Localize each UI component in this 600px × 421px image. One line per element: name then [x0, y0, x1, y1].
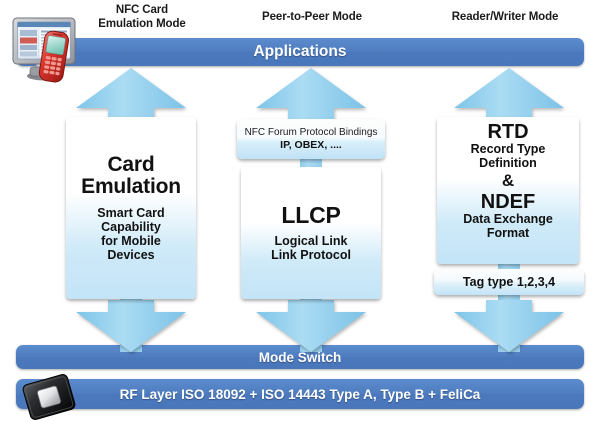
box-rtd-ndef: RTD Record Type Definition & NDEF Data E…: [437, 117, 579, 264]
mode-label-peer-to-peer: Peer-to-Peer Mode: [232, 10, 392, 24]
card-emulation-sub-line3: for Mobile: [97, 234, 164, 248]
box-card-emulation: Card Emulation Smart Card Capability for…: [66, 117, 196, 299]
mode-label-line1: Peer-to-Peer Mode: [232, 10, 392, 24]
mode-label-card-emulation: NFC Card Emulation Mode: [62, 3, 222, 31]
llcp-title: LLCP: [281, 204, 340, 228]
rtd-sub-line2: Definition: [479, 156, 537, 170]
card-emulation-sub-line4: Devices: [97, 248, 164, 262]
tag-type-label: Tag type 1,2,3,4: [463, 275, 555, 289]
arrow-down-left: [76, 300, 186, 352]
rf-layer-bar: RF Layer ISO 18092 + ISO 14443 Type A, T…: [16, 379, 584, 409]
ndef-sub-line2: Format: [487, 226, 529, 240]
card-emulation-sub-line2: Capability: [97, 220, 164, 234]
rf-layer-bar-label: RF Layer ISO 18092 + ISO 14443 Type A, T…: [120, 387, 481, 402]
card-emulation-title-line2: Emulation: [81, 176, 181, 198]
card-emulation-title: Card Emulation: [81, 154, 181, 197]
box-protocol-bindings: NFC Forum Protocol Bindings IP, OBEX, ..…: [237, 119, 385, 159]
box-tag-type: Tag type 1,2,3,4: [434, 269, 584, 295]
mode-label-reader-writer: Reader/Writer Mode: [422, 10, 588, 24]
mode-label-line1: NFC Card: [62, 3, 222, 17]
rtd-sub-line1: Record Type: [471, 142, 546, 156]
arrow-up-right: [454, 68, 564, 120]
applications-bar: Applications: [16, 38, 584, 66]
mode-label-line2: Emulation Mode: [62, 17, 222, 31]
mode-label-line1: Reader/Writer Mode: [422, 10, 588, 24]
rtd-ndef-ampersand: &: [502, 171, 514, 191]
ndef-sub-line1: Data Exchange: [463, 212, 553, 226]
protocol-bindings-line1: NFC Forum Protocol Bindings: [245, 126, 378, 139]
llcp-subtitle: Logical Link Link Protocol: [271, 234, 351, 262]
llcp-sub-line1: Logical Link: [271, 234, 351, 248]
arrow-up-left: [76, 68, 186, 120]
card-emulation-title-line1: Card: [81, 154, 181, 176]
applications-bar-label: Applications: [253, 43, 346, 61]
rtd-title: RTD: [487, 122, 528, 142]
desktop-computer-and-mobile-phone-icon: [6, 8, 82, 84]
protocol-bindings-line2: IP, OBEX, ....: [280, 139, 342, 152]
ndef-title: NDEF: [481, 192, 535, 212]
nfc-architecture-diagram: NFC Card Emulation Mode Peer-to-Peer Mod…: [0, 0, 600, 421]
llcp-sub-line2: Link Protocol: [271, 248, 351, 262]
arrow-down-middle: [256, 300, 366, 352]
card-emulation-subtitle: Smart Card Capability for Mobile Devices: [97, 206, 164, 262]
arrow-up-middle: [256, 68, 366, 120]
card-emulation-sub-line1: Smart Card: [97, 206, 164, 220]
nfc-chip-tag-icon: [18, 372, 80, 421]
box-llcp: LLCP Logical Link Link Protocol: [241, 167, 381, 299]
arrow-down-right: [454, 300, 564, 352]
